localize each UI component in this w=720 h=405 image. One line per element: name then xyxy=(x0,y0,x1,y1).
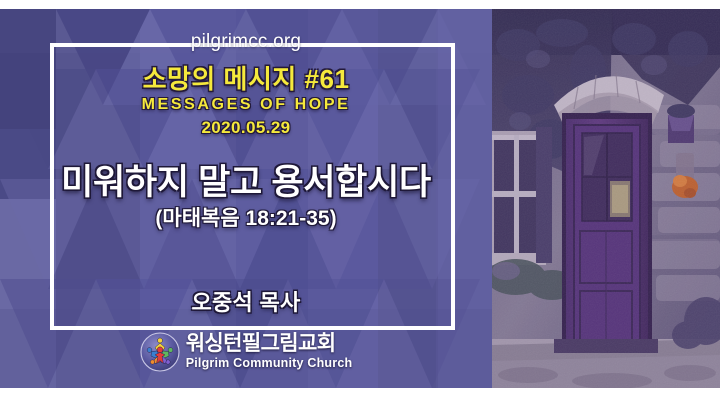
left-content-panel: pilgrimcc.org 소망의 메시지 #61 MESSAGES OF HO… xyxy=(0,9,492,388)
series-heading-block: 소망의 메시지 #61 MESSAGES OF HOPE 2020.05.29 xyxy=(0,65,492,139)
church-name-english: Pilgrim Community Church xyxy=(186,356,353,371)
scripture-reference: (마태복음 18:21-35) xyxy=(0,205,492,233)
church-logo-lockup: 워싱턴필그림교회 Pilgrim Community Church xyxy=(0,332,492,372)
sermon-heading-block: 미워하지 말고 용서합시다 (마태복음 18:21-35) xyxy=(0,163,492,234)
star-people-circle-logo-icon xyxy=(140,332,180,372)
purple-door-illustration xyxy=(492,9,720,388)
sermon-slide: pilgrimcc.org 소망의 메시지 #61 MESSAGES OF HO… xyxy=(0,9,720,388)
sermon-title: 미워하지 말고 용서합시다 xyxy=(0,163,492,202)
top-letterbox-band xyxy=(0,0,720,9)
series-title-korean: 소망의 메시지 #61 xyxy=(0,65,492,94)
door-photograph xyxy=(492,9,720,388)
site-url: pilgrimcc.org xyxy=(0,31,492,53)
speaker-name: 오중석 목사 xyxy=(0,285,492,317)
series-title-english: MESSAGES OF HOPE xyxy=(0,95,492,115)
bottom-letterbox-band xyxy=(0,388,720,405)
logo-wordmark: 워싱턴필그림교회 Pilgrim Community Church xyxy=(186,333,353,371)
sermon-date: 2020.05.29 xyxy=(0,117,492,139)
slide-stage: pilgrimcc.org 소망의 메시지 #61 MESSAGES OF HO… xyxy=(0,0,720,405)
church-name-korean: 워싱턴필그림교회 xyxy=(186,333,353,355)
